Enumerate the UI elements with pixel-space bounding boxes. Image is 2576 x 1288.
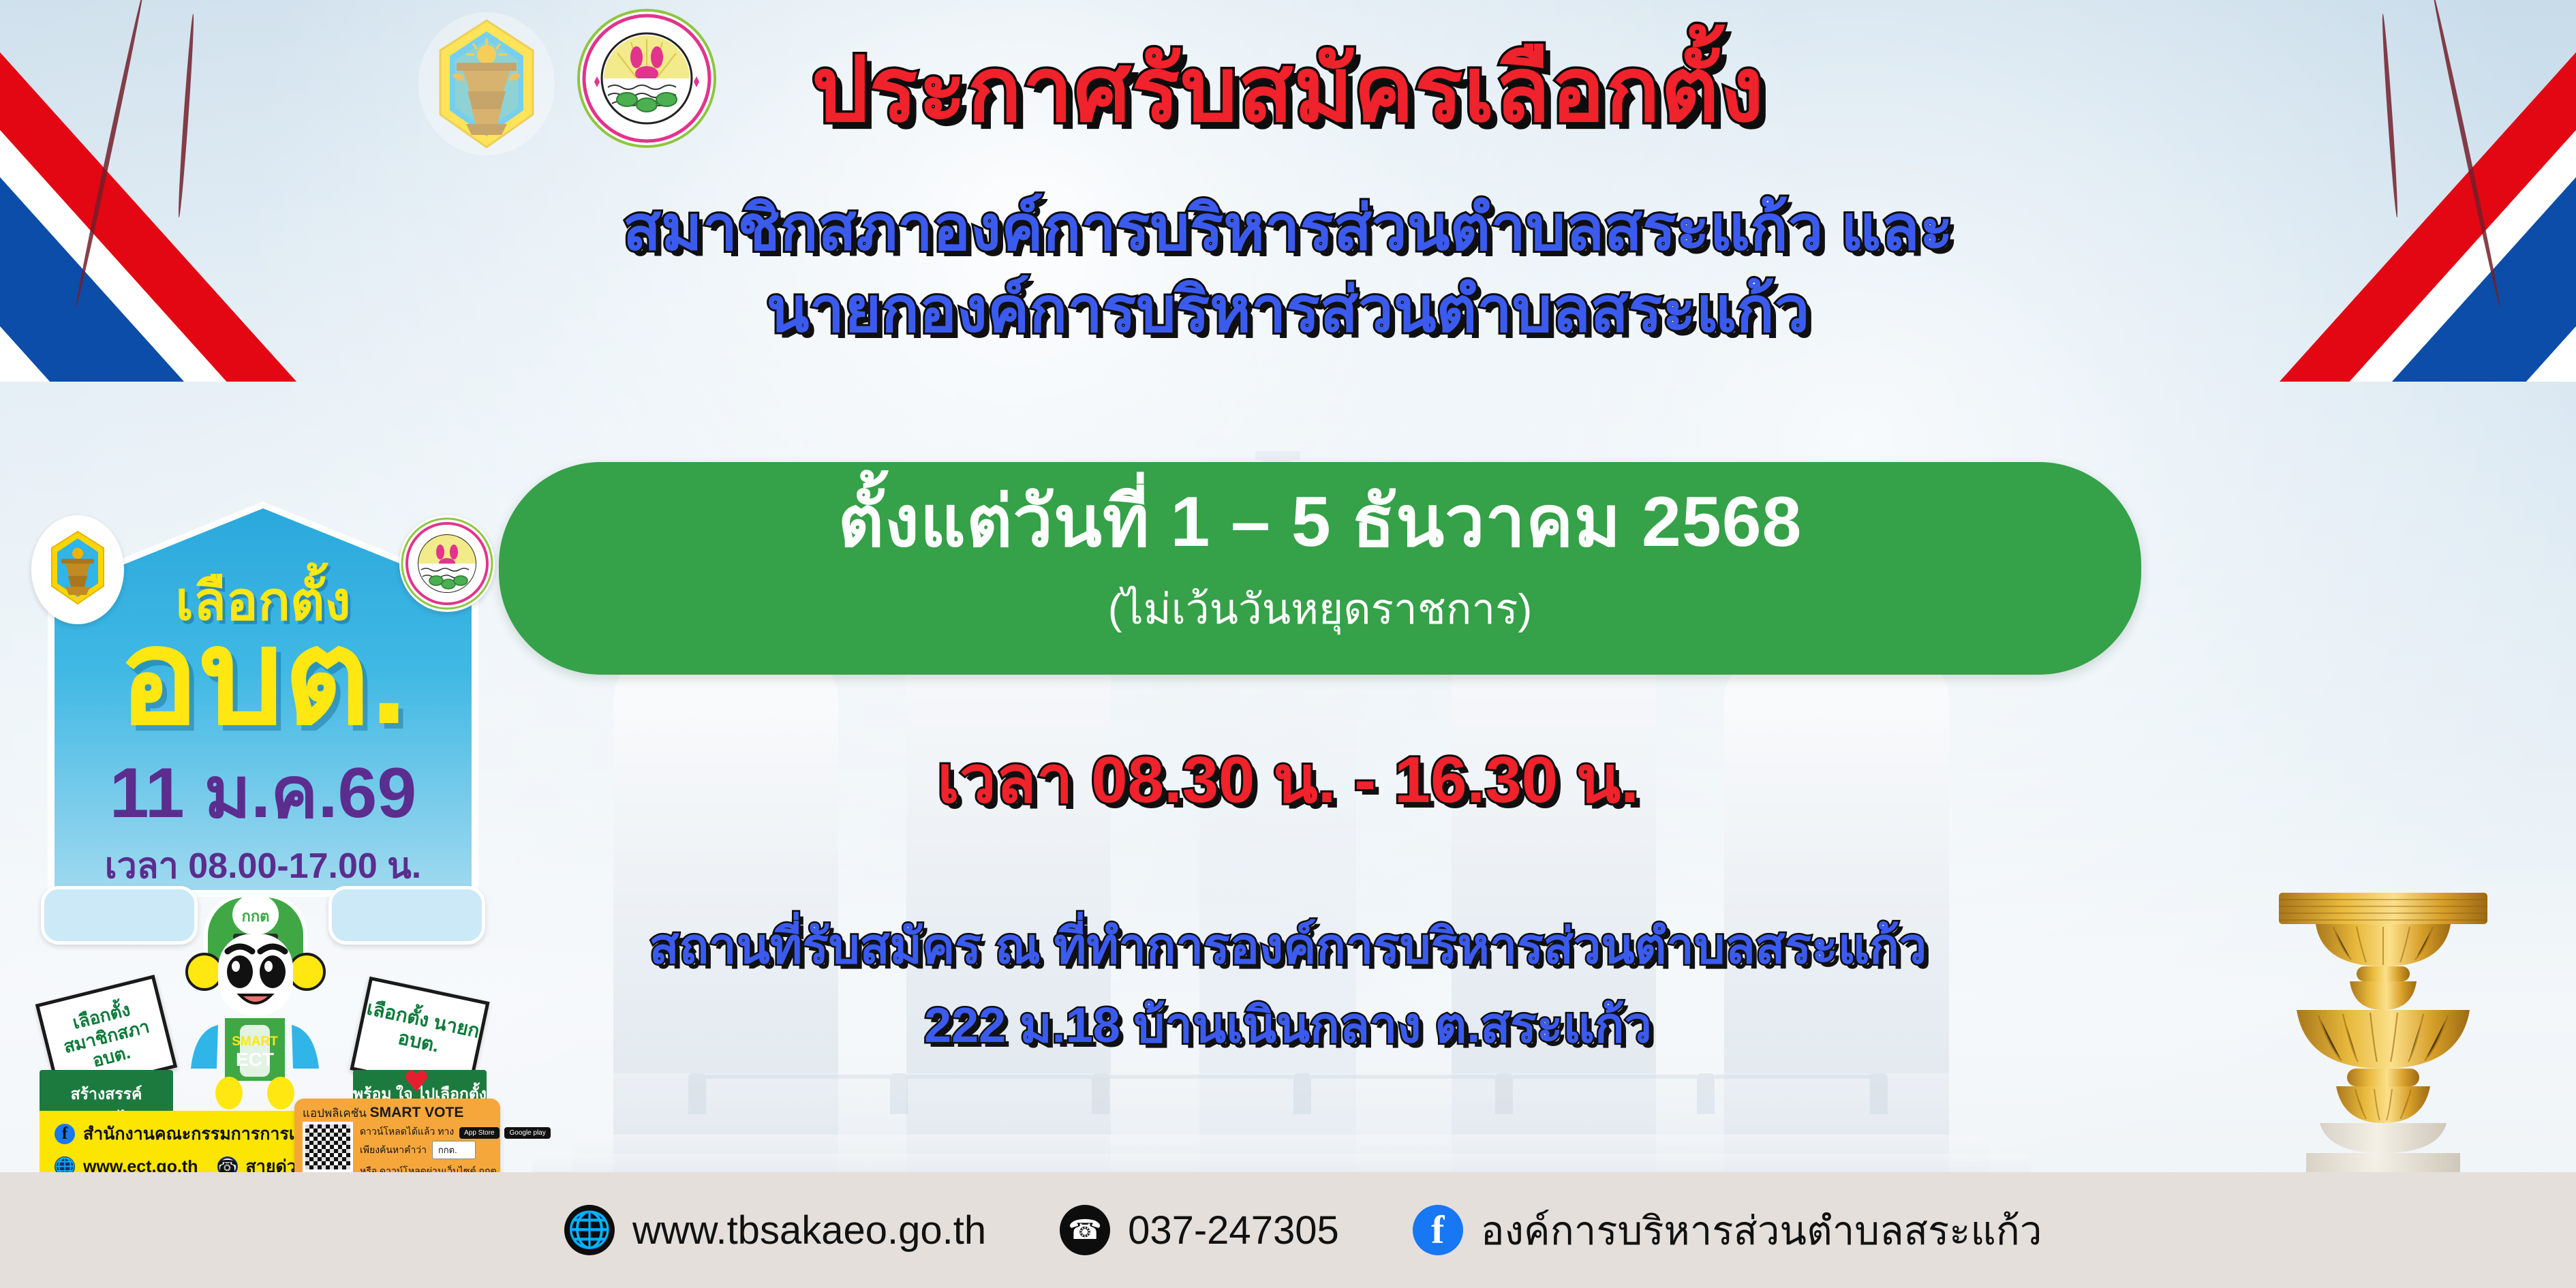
date-note-text: (ไม่เว้นวันหยุดราชการ): [499, 583, 2141, 637]
footer-bar: 🌐 www.tbsakaeo.go.th ☎ 037-247305 f องค์…: [0, 1172, 2576, 1288]
date-banner: ตั้งแต่วันที่ 1 – 5 ธันวาคม 2568 (ไม่เว้…: [499, 462, 2141, 675]
subtitle-line-2: นายกองค์การบริหารส่วนตำบลสระแก้ว: [0, 273, 2576, 348]
card-election-time: เวลา 08.00-17.00 น.: [25, 837, 502, 893]
subtitle-line-1: สมาชิกสภาองค์การบริหารส่วนตำบลสระแก้ว แล…: [0, 191, 2576, 266]
footer-phone-text: 037-247305: [1128, 1208, 1339, 1253]
svg-text:SMART: SMART: [232, 1034, 278, 1049]
google-play-badge[interactable]: Google play: [504, 1127, 550, 1139]
svg-text:กกต: กกต: [242, 908, 270, 925]
footer-website-text: www.tbsakaeo.go.th: [632, 1208, 986, 1253]
gold-finial-ornament: [2271, 886, 2496, 1172]
date-range-text: ตั้งแต่วันที่ 1 – 5 ธันวาคม 2568: [499, 480, 2141, 565]
qr-code-icon[interactable]: [303, 1122, 353, 1172]
app-prefix-label: แอปพลิเคชัน: [303, 1107, 367, 1120]
app-name-label: SMART VOTE: [370, 1105, 464, 1120]
footer-facebook-text: องค์การบริหารส่วนตำบลสระแก้ว: [1481, 1199, 2042, 1262]
ballot-box-left: สร้างสรรค์ประเทศไทย: [40, 1070, 173, 1114]
ballot-sign-left-text: เลือกตั้ง สมาชิกสภา อบต.: [40, 979, 170, 1081]
phone-icon: ☎: [1060, 1205, 1110, 1255]
monument-railing: [688, 1072, 1888, 1114]
search-row: เพียงค้นหาคำว่า กกต.: [360, 1141, 476, 1159]
search-input[interactable]: กกต.: [432, 1141, 476, 1159]
card-big-label: อบต.: [25, 611, 502, 744]
mascot-zone: กกต: [38, 886, 488, 1111]
smart-ect-mascot-icon: กกต: [153, 891, 357, 1109]
download-row: ดาวน์โหลดได้แล้ว ทาง App Store Google pl…: [360, 1124, 551, 1139]
download-label: ดาวน์โหลดได้แล้ว ทาง: [360, 1126, 454, 1137]
svg-text:ECT: ECT: [236, 1049, 274, 1070]
ect-announcement-card: เลือกตั้ง อบต. 11 ม.ค.69 เวลา 08.00-17.0…: [25, 477, 502, 1186]
footer-website-item[interactable]: 🌐 www.tbsakaeo.go.th: [564, 1205, 986, 1255]
page-title: ประกาศรับสมัครเลือกตั้ง: [0, 40, 2576, 140]
facebook-icon: f: [55, 1124, 75, 1144]
ballot-sign-right-text: เลือกตั้ง นายก อบต.: [360, 981, 486, 1064]
footer-facebook-item[interactable]: f องค์การบริหารส่วนตำบลสระแก้ว: [1413, 1199, 2042, 1262]
globe-icon: 🌐: [564, 1205, 615, 1255]
card-election-date: 11 ม.ค.69: [25, 758, 502, 829]
footer-phone-item[interactable]: ☎ 037-247305: [1060, 1205, 1339, 1255]
search-label: เพียงค้นหาคำว่า: [360, 1144, 427, 1155]
poster-canvas: ประกาศรับสมัครเลือกตั้ง สมาชิกสภาองค์การ…: [0, 0, 2576, 1288]
app-store-badge[interactable]: App Store: [459, 1127, 499, 1139]
smart-vote-title: แอปพลิเคชัน SMART VOTE: [303, 1104, 463, 1122]
facebook-icon: f: [1413, 1205, 1463, 1255]
